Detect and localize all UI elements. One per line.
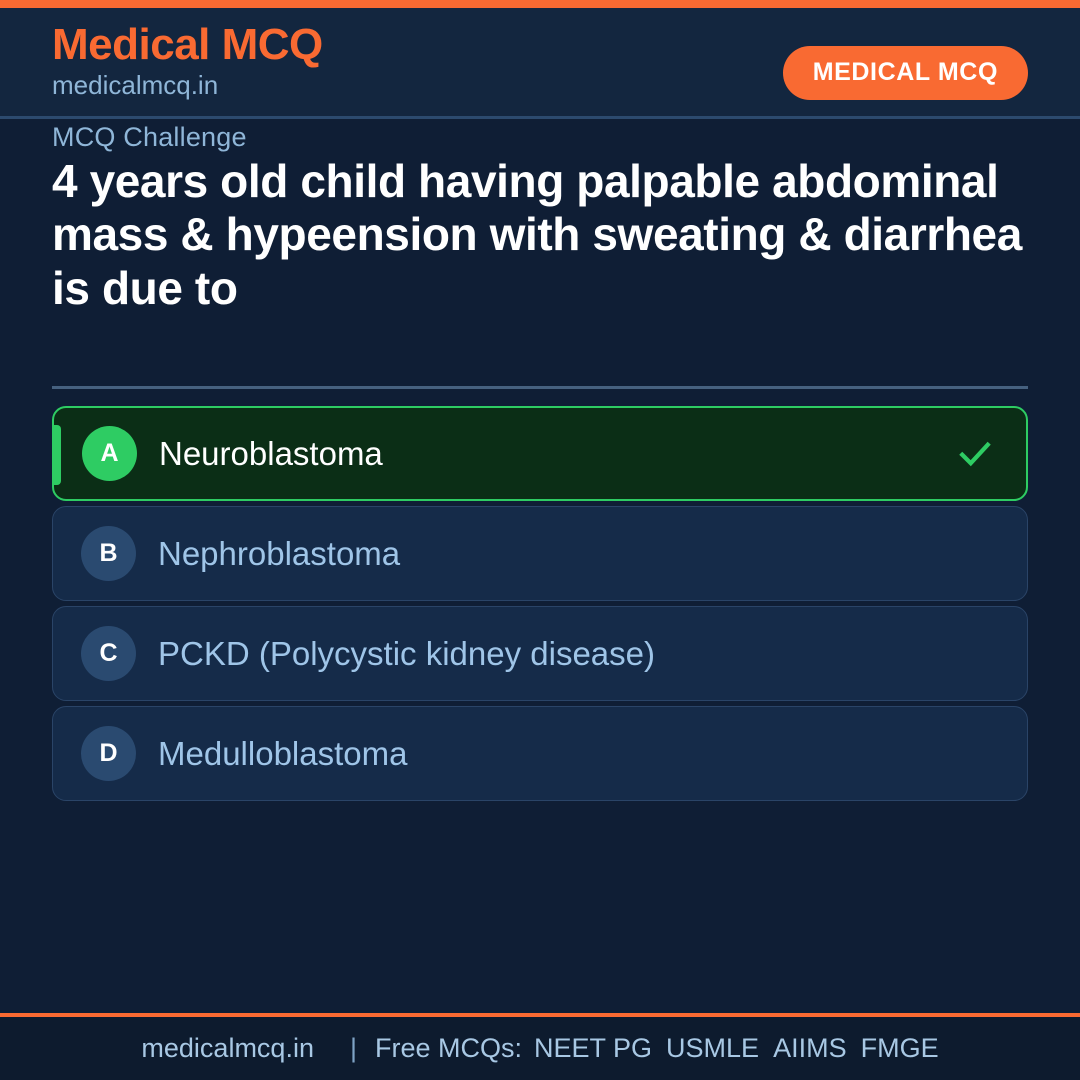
brand-subtitle: medicalmcq.in <box>52 70 323 101</box>
option-a[interactable]: A Neuroblastoma <box>52 406 1028 501</box>
option-b[interactable]: B Nephroblastoma <box>52 506 1028 601</box>
option-c-label: PCKD (Polycystic kidney disease) <box>158 637 655 670</box>
option-b-letter: B <box>81 526 136 581</box>
option-d[interactable]: D Medulloblastoma <box>52 706 1028 801</box>
app-footer: medicalmcq.in | Free MCQs: NEET PG USMLE… <box>0 1017 1080 1080</box>
option-c-letter: C <box>81 626 136 681</box>
footer-site: medicalmcq.in <box>141 1033 314 1064</box>
brand: Medical MCQ medicalmcq.in <box>52 22 323 101</box>
app-header: Medical MCQ medicalmcq.in MEDICAL MCQ <box>0 8 1080 119</box>
option-a-label: Neuroblastoma <box>159 437 383 470</box>
check-icon <box>958 437 992 471</box>
footer-exam-fmge: FMGE <box>861 1033 939 1064</box>
correct-accent-bar <box>54 425 61 485</box>
brand-title: Medical MCQ <box>52 22 323 68</box>
option-b-label: Nephroblastoma <box>158 537 400 570</box>
top-accent-bar <box>0 0 1080 8</box>
option-c[interactable]: C PCKD (Polycystic kidney disease) <box>52 606 1028 701</box>
footer-exam-usmle: USMLE <box>666 1033 759 1064</box>
option-a-letter: A <box>82 426 137 481</box>
footer-content: medicalmcq.in | Free MCQs: NEET PG USMLE… <box>141 1033 938 1064</box>
options-list: A Neuroblastoma B Nephroblastoma C PCKD … <box>52 406 1028 806</box>
question-divider <box>52 386 1028 389</box>
footer-exam-aiims: AIIMS <box>773 1033 847 1064</box>
header-badge: MEDICAL MCQ <box>783 46 1028 100</box>
question-text: 4 years old child having palpable abdomi… <box>52 155 1028 315</box>
option-d-label: Medulloblastoma <box>158 737 407 770</box>
footer-label: Free MCQs: <box>375 1033 522 1064</box>
footer-exam-neet-pg: NEET PG <box>534 1033 652 1064</box>
option-d-letter: D <box>81 726 136 781</box>
section-eyebrow: MCQ Challenge <box>52 122 247 153</box>
footer-separator: | <box>350 1033 357 1064</box>
